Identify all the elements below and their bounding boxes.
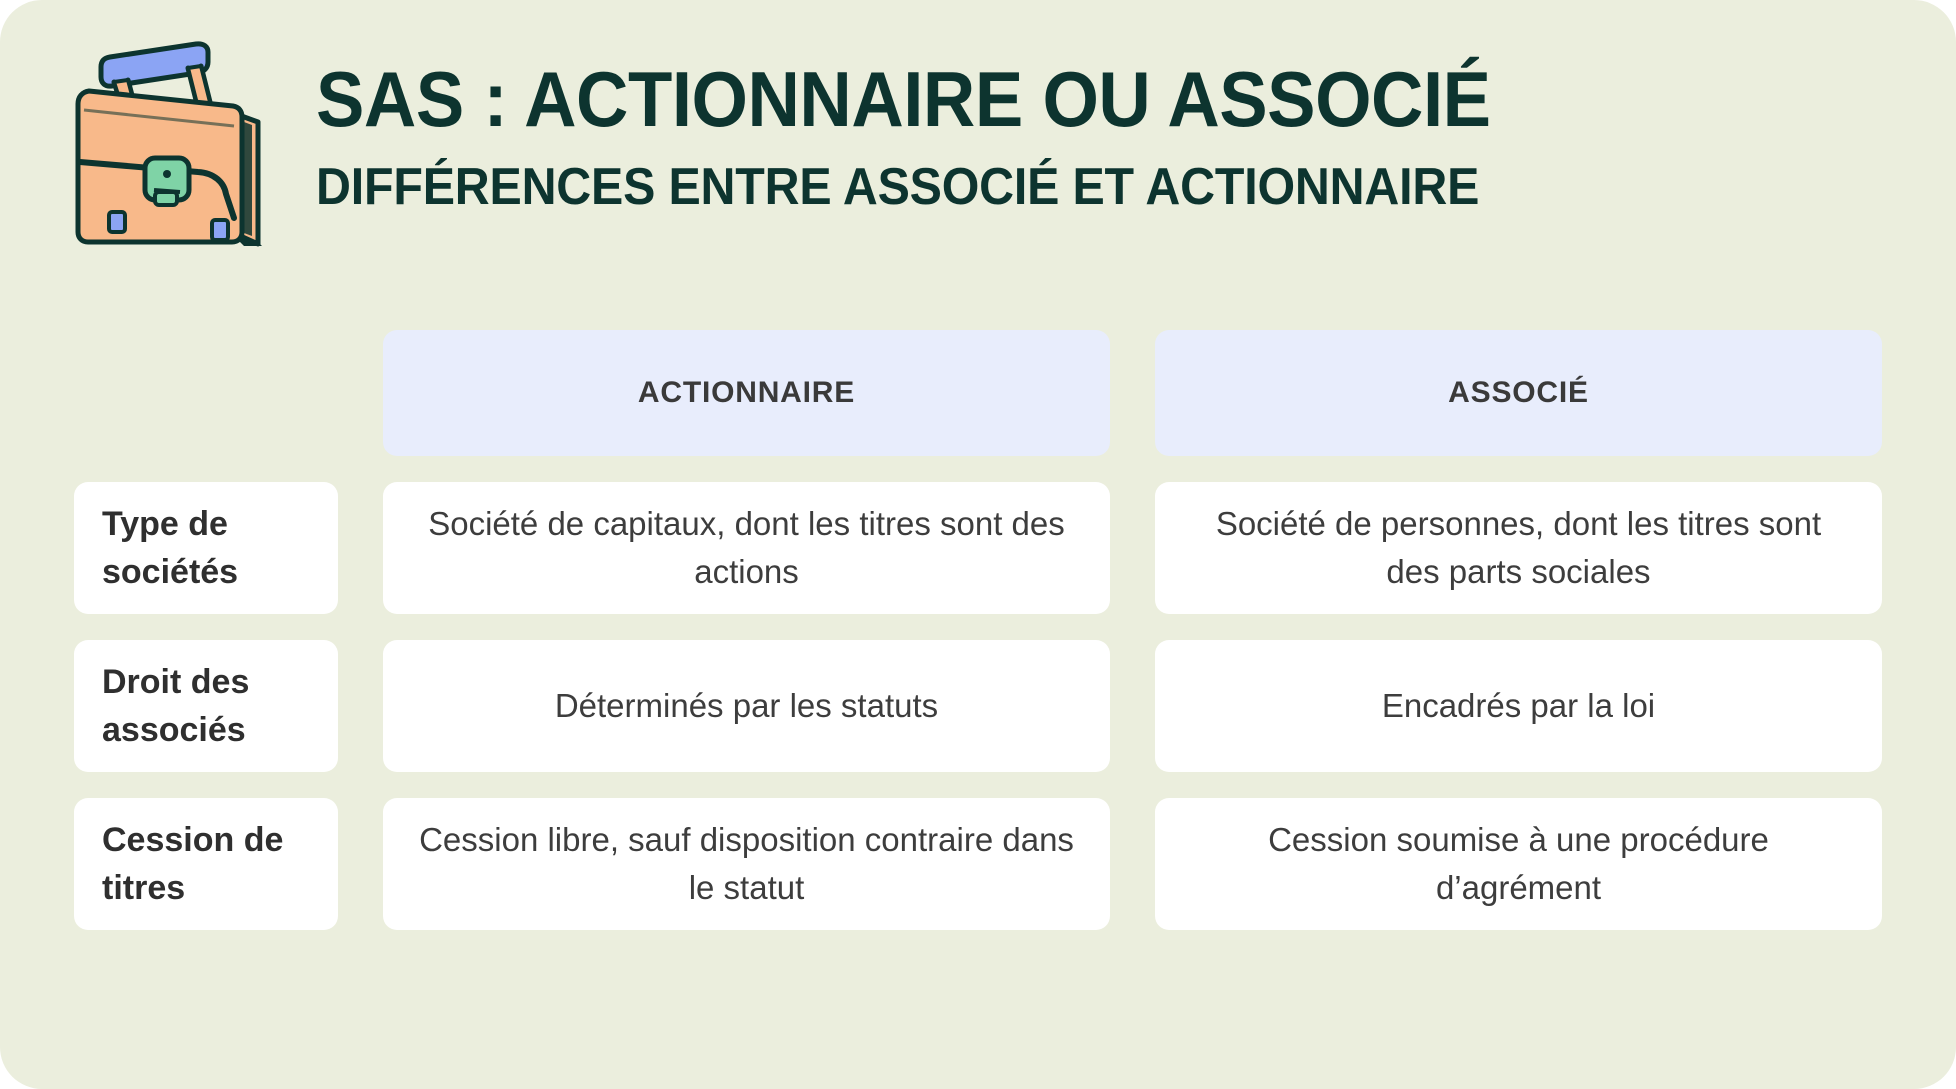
row-label-droit-des-associes: Droit des associés — [74, 640, 338, 772]
row-label-type-de-societes: Type de sociétés — [74, 482, 338, 614]
header-spacer-cell — [74, 330, 338, 456]
cell-actionnaire-droit-des-associes: Déterminés par les statuts — [383, 640, 1110, 772]
cell-actionnaire-cession-de-titres: Cession libre, sauf disposition contrair… — [383, 798, 1110, 930]
header-band: SAS : ACTIONNAIRE OU ASSOCIÉ DIFFÉRENCES… — [0, 0, 1956, 300]
cell-actionnaire-type-de-societes: Société de capitaux, dont les titres son… — [383, 482, 1110, 614]
infographic-root: SAS : ACTIONNAIRE OU ASSOCIÉ DIFFÉRENCES… — [0, 0, 1956, 1089]
briefcase-icon — [48, 22, 300, 262]
column-header-actionnaire: ACTIONNAIRE — [383, 330, 1110, 456]
cell-associe-cession-de-titres: Cession soumise à une procédure d’agréme… — [1155, 798, 1882, 930]
comparison-table: ACTIONNAIRE ASSOCIÉ Type de sociétés Soc… — [74, 330, 1882, 930]
table-row: Cession de titres Cession libre, sauf di… — [74, 798, 1882, 930]
cell-associe-type-de-societes: Société de personnes, dont les titres so… — [1155, 482, 1882, 614]
table-row: Type de sociétés Société de capitaux, do… — [74, 482, 1882, 614]
column-header-associe: ASSOCIÉ — [1155, 330, 1882, 456]
page-title: SAS : ACTIONNAIRE OU ASSOCIÉ — [316, 56, 1804, 142]
row-label-cession-de-titres: Cession de titres — [74, 798, 338, 930]
table-row: Droit des associés Déterminés par les st… — [74, 640, 1882, 772]
table-header-row: ACTIONNAIRE ASSOCIÉ — [74, 330, 1882, 456]
page-subtitle: DIFFÉRENCES ENTRE ASSOCIÉ ET ACTIONNAIRE — [316, 156, 1804, 218]
cell-associe-droit-des-associes: Encadrés par la loi — [1155, 640, 1882, 772]
title-block: SAS : ACTIONNAIRE OU ASSOCIÉ DIFFÉRENCES… — [316, 56, 1916, 218]
